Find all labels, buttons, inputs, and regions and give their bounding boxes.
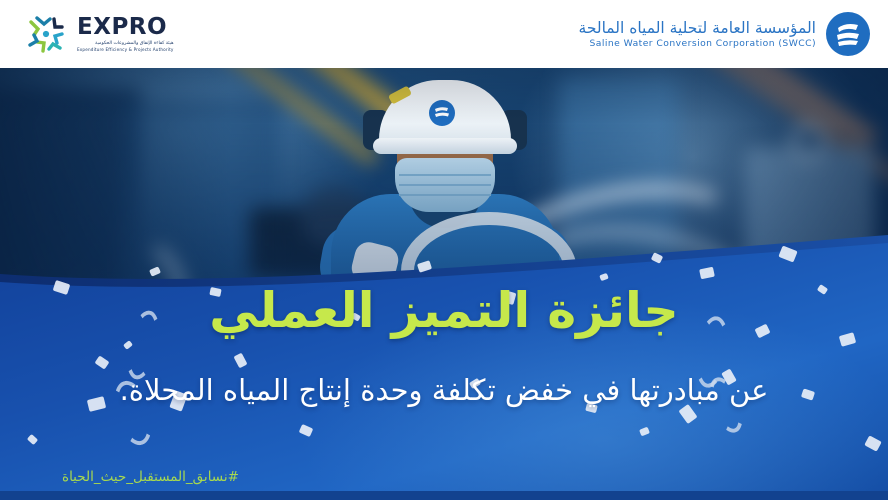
expro-subtitle-english: Expenditure Efficiency & Projects Author… [77,48,174,52]
expro-logo: EXPRO هيئة كفاءة الإنفاق والمشروعات الحك… [24,12,174,56]
swcc-name-english: Saline Water Conversion Corporation (SWC… [590,39,816,49]
page-header: EXPRO هيئة كفاءة الإنفاق والمشروعات الحك… [0,0,888,68]
page-title: جائزة التميز العملي [0,284,888,338]
swcc-wordmark: المؤسسة العامة لتحلية المياه المالحة Sal… [579,20,816,49]
campaign-hashtag: #نسابق_المستقبل_حيث_الحياة [62,469,239,485]
expro-starburst-icon [24,12,68,56]
expro-wordmark: EXPRO هيئة كفاءة الإنفاق والمشروعات الحك… [77,16,174,52]
expro-subtitle-arabic: هيئة كفاءة الإنفاق والمشروعات الحكومية [77,42,174,47]
swcc-wave-emblem-icon [826,12,870,56]
confetti-decoration [0,230,888,500]
page-subtitle: عن مبادرتها في خفض تكلفة وحدة إنتاج المي… [0,372,888,408]
swcc-logo: المؤسسة العامة لتحلية المياه المالحة Sal… [579,12,870,56]
award-announcement-banner: EXPRO هيئة كفاءة الإنفاق والمشروعات الحك… [0,0,888,500]
banner-bottom-strip [0,491,888,500]
blue-banner [0,230,888,500]
swcc-name-arabic: المؤسسة العامة لتحلية المياه المالحة [579,20,816,36]
expro-name: EXPRO [77,16,174,39]
